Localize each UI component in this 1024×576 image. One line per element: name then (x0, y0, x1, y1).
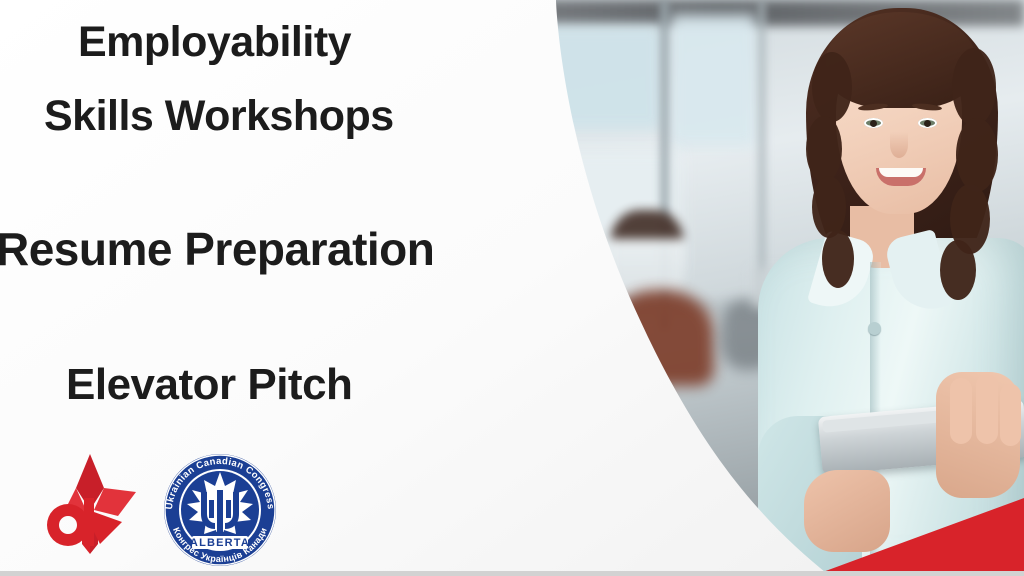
title-line-2: Skills Workshops (44, 92, 394, 141)
hair-curl (956, 118, 998, 192)
bottom-edge-strip (0, 571, 1024, 576)
teeth (879, 168, 923, 177)
left-hand (804, 470, 890, 552)
finger (976, 374, 998, 444)
nose (890, 132, 908, 158)
title-line-1: Employability (78, 18, 351, 67)
pupil (924, 120, 931, 127)
hair-curl (812, 52, 852, 122)
hair-curl (822, 230, 854, 288)
ukrainian-canadian-congress-alberta-logo: ALBERTA Ukrainian Canadian Congress Конг… (154, 448, 286, 572)
finger (950, 378, 972, 444)
finger (1000, 384, 1021, 446)
hair-curl (940, 240, 976, 300)
pupil (870, 120, 877, 127)
alberta-maple-leaf-logo (38, 448, 142, 560)
text-block: Employability Skills Workshops Resume Pr… (0, 0, 560, 440)
office-photo (520, 0, 1024, 576)
shirt-button (868, 322, 881, 335)
hair-curl (952, 48, 996, 126)
topic-elevator-pitch: Elevator Pitch (66, 360, 352, 410)
presentation-slide: Employability Skills Workshops Resume Pr… (0, 0, 1024, 576)
woman-figure (520, 0, 1024, 576)
logo-banner-text: ALBERTA (190, 537, 250, 549)
hair-curl (812, 176, 846, 238)
hair-curl (806, 116, 842, 182)
topic-resume-preparation: Resume Preparation (0, 222, 434, 276)
